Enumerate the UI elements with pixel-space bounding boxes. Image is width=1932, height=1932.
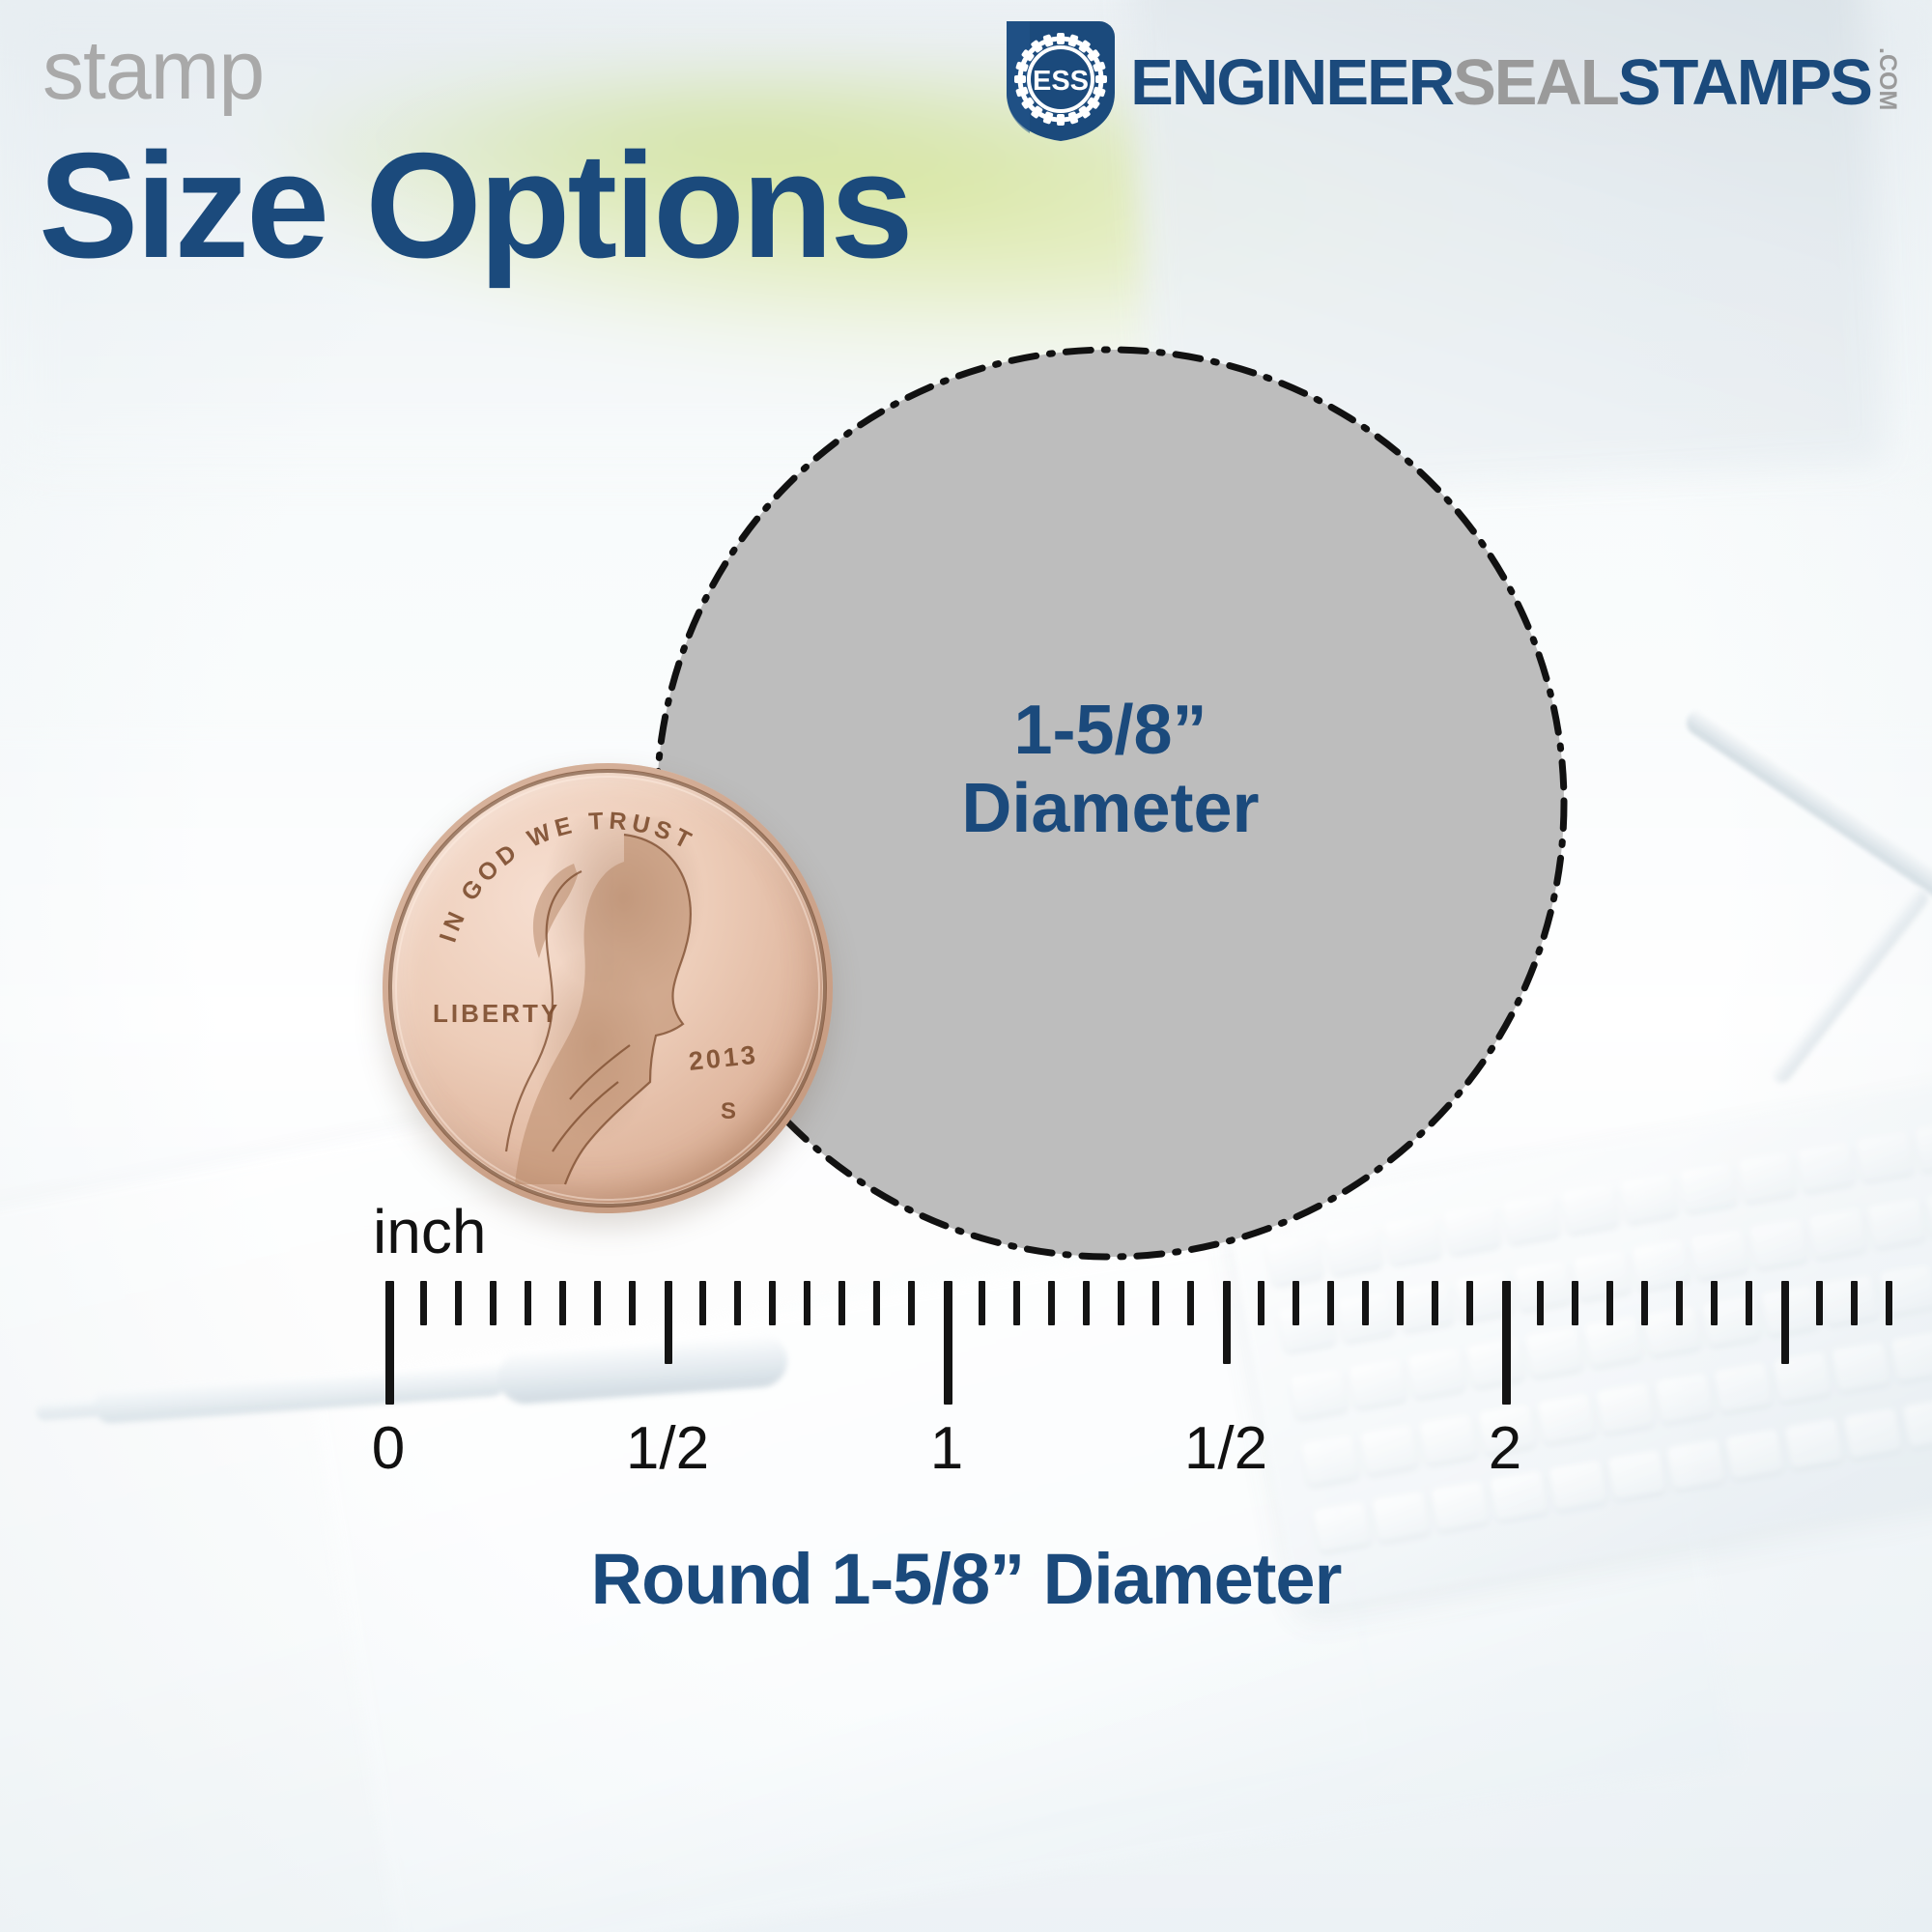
ruler-label: 2 [1489, 1414, 1521, 1483]
ruler-tick-minor [1816, 1281, 1823, 1325]
ruler-tick-minor [1152, 1281, 1159, 1325]
ruler-tick-minor [455, 1281, 462, 1325]
engineer-seal-stamps-logo[interactable]: ESS ENGINEER SEAL STAMPS .COM [1001, 17, 1899, 145]
footer-caption: Round 1-5/8” Diameter [0, 1538, 1932, 1620]
ruler-tick-major [385, 1281, 394, 1405]
ruler-tick-minor [594, 1281, 601, 1325]
ruler-tick-minor [1083, 1281, 1090, 1325]
ruler-tick-minor [1362, 1281, 1369, 1325]
ruler-unit-label: inch [373, 1196, 486, 1267]
ruler-tick-minor [1746, 1281, 1752, 1325]
ruler-tick-minor [873, 1281, 880, 1325]
ruler-tick-minor [629, 1281, 636, 1325]
logo-part-stamps: STAMPS [1618, 50, 1871, 115]
brand-word: stamp [43, 29, 264, 112]
ruler-tick-minor [979, 1281, 985, 1325]
ruler-tick-minor [1466, 1281, 1473, 1325]
ess-shield-gear-icon: ESS [1001, 17, 1121, 145]
ruler-tick-half [1223, 1281, 1231, 1364]
logo-part-seal: SEAL [1453, 50, 1618, 115]
ruler-tick-half [665, 1281, 672, 1364]
size-options-graphic: stamp Size Options ESS ENGINEER [0, 0, 1932, 1932]
ruler-tick-minor [804, 1281, 810, 1325]
penny-liberty-text: LIBERTY [433, 999, 560, 1028]
page-title: Size Options [39, 130, 911, 280]
ruler-tick-minor [1013, 1281, 1020, 1325]
ruler-tick-minor [559, 1281, 566, 1325]
ruler-tick-minor [1293, 1281, 1299, 1325]
ruler-tick-minor [1886, 1281, 1892, 1325]
ruler-tick-minor [1711, 1281, 1718, 1325]
ruler-tick-minor [838, 1281, 845, 1325]
ruler-tick-minor [490, 1281, 497, 1325]
ruler-tick-minor [1676, 1281, 1683, 1325]
ruler-tick-minor [1851, 1281, 1858, 1325]
ruler-tick-minor [1187, 1281, 1194, 1325]
ruler-tick-minor [1432, 1281, 1438, 1325]
ruler-tick-minor [420, 1281, 427, 1325]
inch-ruler: 01/211/22 [0, 1281, 1932, 1503]
ruler-tick-minor [908, 1281, 915, 1325]
penny-year-text: 2013 [687, 1040, 759, 1076]
us-penny-reference-coin: IN GOD WE TRUST LIBERTY 2013 S [383, 763, 833, 1213]
ruler-tick-major [944, 1281, 952, 1405]
ruler-tick-minor [1606, 1281, 1613, 1325]
stamp-size-value: 1-5/8” [657, 692, 1564, 770]
ruler-tick-minor [1118, 1281, 1124, 1325]
ruler-tick-minor [1327, 1281, 1334, 1325]
penny-mint-mark-text: S [721, 1098, 736, 1124]
ruler-tick-minor [769, 1281, 776, 1325]
ruler-tick-minor [699, 1281, 706, 1325]
ruler-tick-minor [734, 1281, 741, 1325]
ruler-tick-major [1502, 1281, 1511, 1405]
ess-badge-text: ESS [1033, 66, 1089, 97]
ruler-tick-minor [1258, 1281, 1264, 1325]
logo-wordmark: ENGINEER SEAL STAMPS .COM [1130, 47, 1899, 114]
ruler-label: 1/2 [626, 1414, 709, 1483]
ruler-label: 0 [372, 1414, 405, 1483]
ruler-label: 1/2 [1184, 1414, 1267, 1483]
ruler-tick-minor [1572, 1281, 1578, 1325]
ruler-tick-half [1781, 1281, 1789, 1364]
ruler-label: 1 [930, 1414, 963, 1483]
ruler-tick-minor [1537, 1281, 1544, 1325]
ruler-tick-minor [1397, 1281, 1404, 1325]
ruler-tick-minor [1641, 1281, 1648, 1325]
logo-tld: .COM [1875, 47, 1899, 110]
ruler-tick-minor [525, 1281, 531, 1325]
ruler-tick-minor [1048, 1281, 1055, 1325]
logo-part-engineer: ENGINEER [1130, 50, 1453, 115]
